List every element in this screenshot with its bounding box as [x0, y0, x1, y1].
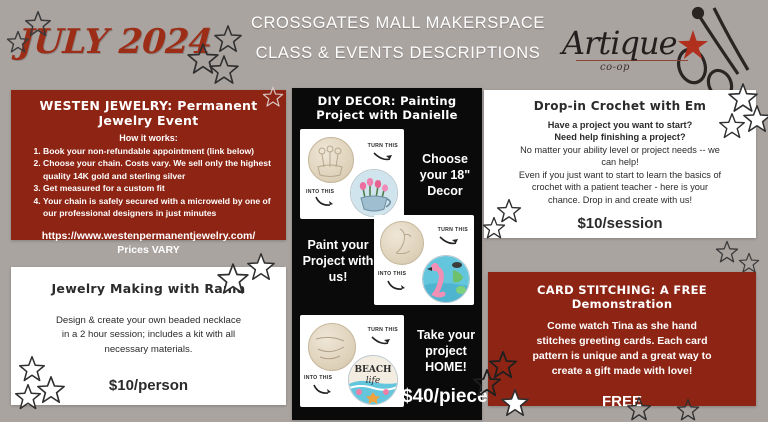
card-title: Drop-in Crochet with Em [498, 99, 742, 113]
painted-result-icon: BEACH life [348, 355, 398, 405]
diy-caption-2: Paint your Project with us! [302, 237, 374, 286]
crochet-line-5: chance. Drop in and create with us! [498, 194, 742, 207]
diy-price: $40/piece [402, 385, 486, 410]
painted-result-icon [422, 255, 470, 303]
poster-canvas: JULY 2024 CROSSGATES MALL MAKERSPACE CLA… [0, 0, 768, 422]
card-drop-in-crochet: Drop-in Crochet with Em Have a project y… [484, 90, 756, 238]
crochet-line-1: No matter your ability level or project … [498, 144, 742, 157]
header-line-2: CLASS & EVENTS DESCRIPTIONS [238, 38, 558, 68]
rania-line-1: Design & create your own beaded necklace [29, 314, 268, 328]
turn-this-label: TURN THIS [368, 143, 398, 149]
westen-url[interactable]: https://www.westenpermanentjewelry.com/ [21, 229, 276, 243]
list-item: Choose your chain. Costs vary. We sell o… [43, 157, 276, 182]
scissors-icon [668, 0, 764, 101]
diy-photo-tulips: TURN THIS INTO THIS [300, 129, 404, 219]
stitch-line-2: stitches greeting cards. Each card [500, 334, 744, 349]
card-card-stitching: CARD STITCHING: A FREE Demonstration Com… [488, 272, 756, 406]
stitch-line-3: pattern is unique and a great way to [500, 349, 744, 364]
card-diy-decor: DIY DECOR: Painting Project with Daniell… [292, 88, 482, 420]
artique-logo: Artique co-op [556, 10, 756, 92]
card-jewelry-making-rania: Jewelry Making with Rania Design & creat… [11, 267, 286, 405]
crochet-price: $10/session [498, 215, 742, 232]
header-line-1: CROSSGATES MALL MAKERSPACE [238, 8, 558, 38]
diy-caption-3: Take your project HOME! [410, 327, 482, 376]
stitch-line-1: Come watch Tina as she hand [500, 319, 744, 334]
logo-subtext: co-op [600, 62, 630, 73]
card-title: WESTEN JEWELRY: Permanent Jewelry Event [21, 98, 276, 128]
crochet-line-4: crochet with a patient teacher - here is… [498, 181, 742, 194]
into-this-label: INTO THIS [304, 375, 332, 381]
diy-row-1: TURN THIS INTO THIS Choose your 18" Deco… [298, 129, 476, 221]
diy-row-2: Paint your Project with us! [298, 225, 476, 309]
crochet-bold-2: Need help finishing a project? [498, 131, 742, 143]
card-title: DIY DECOR: Painting Project with Daniell… [298, 94, 476, 123]
svg-text:BEACH: BEACH [354, 365, 392, 375]
stitch-price: FREE [500, 393, 744, 410]
logo-wordmark: Artique [562, 24, 677, 62]
diy-photo-beach: BEACH life TURN THIS INTO THIS [300, 315, 404, 407]
list-item: Your chain is safely secured with a micr… [43, 195, 276, 220]
diy-row-3: BEACH life TURN THIS INTO THIS Take your… [298, 315, 476, 411]
turn-this-label: TURN THIS [438, 227, 468, 233]
crochet-line-2: can help! [498, 156, 742, 169]
crochet-body: Have a project you want to start? Need h… [498, 119, 742, 206]
card-title-line-1: DIY DECOR: Painting [298, 94, 476, 108]
into-this-label: INTO THIS [378, 271, 406, 277]
painted-result-icon [350, 169, 398, 217]
month-title: JULY 2024 [17, 22, 214, 62]
card-title-line-2: Project with Danielle [298, 108, 476, 122]
rania-price: $10/person [29, 377, 268, 394]
list-item: Get measured for a custom fit [43, 182, 276, 194]
diy-caption-1: Choose your 18" Decor [410, 151, 480, 200]
list-item: Book your non-refundable appointment (li… [43, 145, 276, 157]
turn-this-label: TURN THIS [368, 327, 398, 333]
rania-body: Design & create your own beaded necklace… [29, 314, 268, 357]
card-title: CARD STITCHING: A FREE Demonstration [500, 283, 744, 311]
star-icon [738, 252, 760, 274]
stitch-line-4: create a gift made with love! [500, 364, 744, 379]
westen-link-block: https://www.westenpermanentjewelry.com/ … [21, 229, 276, 257]
stitch-body: Come watch Tina as she hand stitches gre… [500, 319, 744, 379]
crochet-bold-1: Have a project you want to start? [498, 119, 742, 131]
card-westen-jewelry: WESTEN JEWELRY: Permanent Jewelry Event … [11, 90, 286, 240]
rania-line-3: necessary materials. [29, 343, 268, 357]
westen-price-note: Prices VARY [21, 243, 276, 257]
star-icon [715, 240, 739, 264]
card-title: Jewelry Making with Rania [29, 281, 268, 296]
how-it-works-label: How it works: [21, 133, 276, 143]
diy-photo-flamingo: TURN THIS INTO THIS [374, 215, 474, 305]
rania-line-2: in a 2 hour session; includes a kit with… [29, 328, 268, 342]
crochet-line-3: Even if you just want to start to learn … [498, 169, 742, 182]
star-icon [208, 54, 240, 86]
poster-header: CROSSGATES MALL MAKERSPACE CLASS & EVENT… [238, 8, 558, 68]
svg-text:life: life [366, 376, 380, 386]
westen-steps-list: Book your non-refundable appointment (li… [21, 145, 276, 220]
